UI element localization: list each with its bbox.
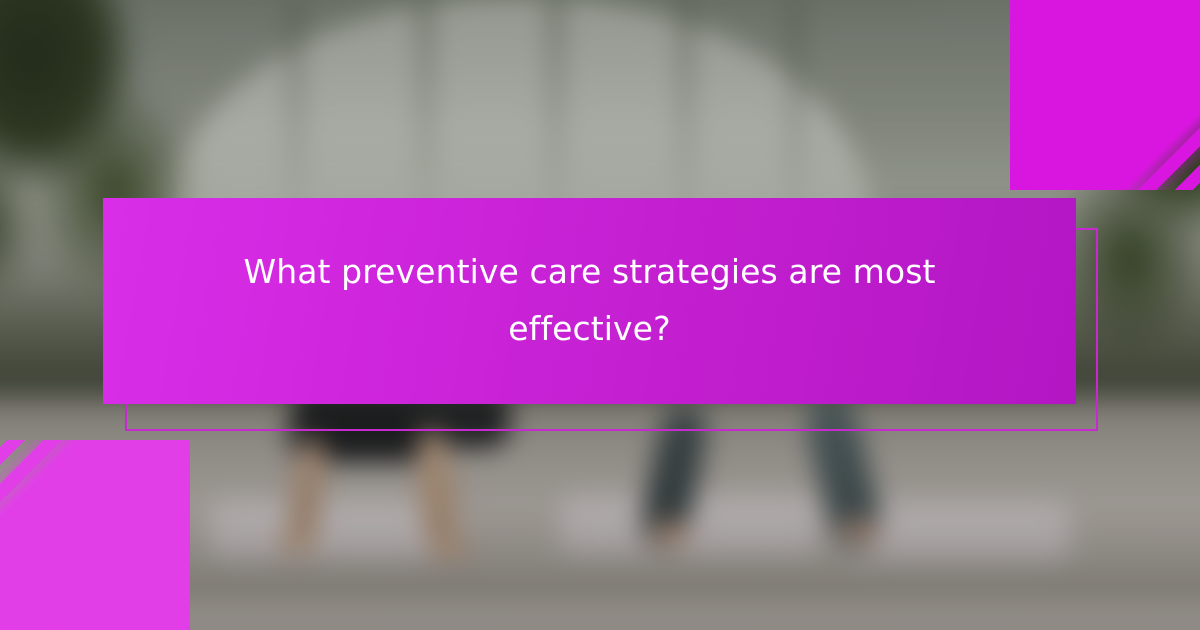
- headline-banner: What preventive care strategies are most…: [103, 198, 1076, 404]
- page-title: What preventive care strategies are most…: [157, 244, 1022, 358]
- photo-figure-foot: [278, 532, 316, 552]
- photo-figure-foot: [650, 522, 690, 544]
- poster-canvas: What preventive care strategies are most…: [0, 0, 1200, 630]
- photo-figure-foot: [430, 538, 468, 558]
- photo-figure-foot: [840, 520, 880, 542]
